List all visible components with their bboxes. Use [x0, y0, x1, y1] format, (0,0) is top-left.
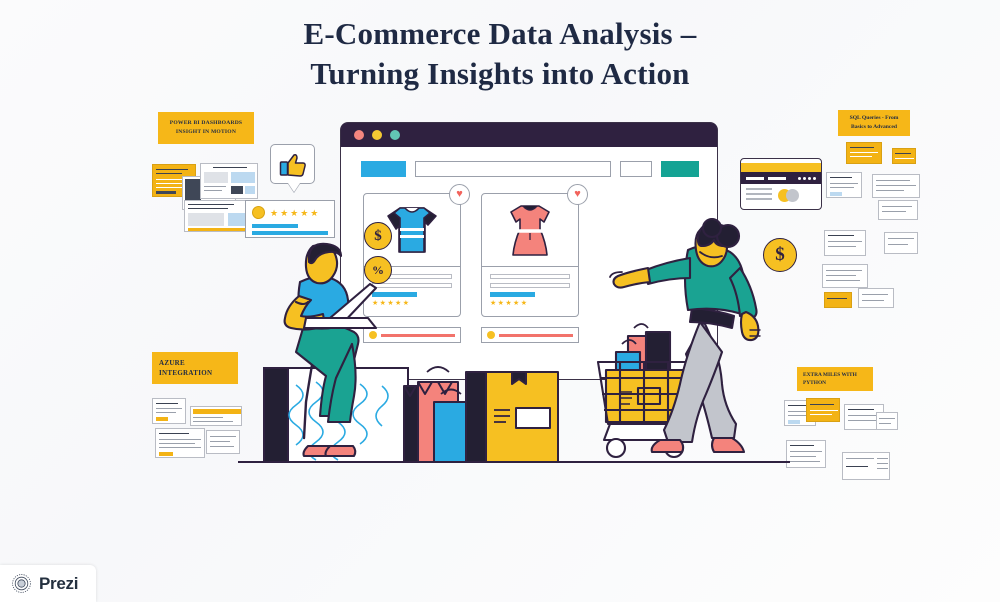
- thumbnail-azure-3[interactable]: [155, 428, 205, 458]
- review-stars: ★★★★★: [270, 209, 320, 217]
- label-sql-line-1: SQL Queries - From: [850, 114, 899, 123]
- product-rating-stars: ★★★★★: [490, 300, 570, 308]
- minimize-dot-icon[interactable]: [372, 130, 382, 140]
- dollar-coin-small-icon: $: [364, 222, 392, 250]
- product-image-dress: [482, 194, 578, 266]
- prezi-logo-icon: [11, 573, 32, 594]
- seat-platform: [264, 368, 408, 462]
- product-price-bar: [490, 292, 535, 297]
- thumbnail-python-2[interactable]: [806, 398, 840, 422]
- progress-row: [341, 317, 717, 343]
- browser-title-bar: [341, 123, 717, 147]
- thumbnail-azure-2[interactable]: [190, 406, 242, 426]
- account-box[interactable]: [620, 161, 652, 177]
- search-input[interactable]: [415, 161, 611, 177]
- page-title: E-Commerce Data Analysis – Turning Insig…: [0, 14, 1000, 94]
- cardboard-box: [466, 372, 558, 462]
- thumbnail-python-6[interactable]: [842, 452, 890, 480]
- progress-knob[interactable]: [487, 331, 495, 339]
- thumbnail-azure-4[interactable]: [206, 430, 240, 454]
- thumbnail-python-5[interactable]: [786, 440, 826, 468]
- thumbnail-dashboard-3[interactable]: [200, 163, 258, 199]
- label-python-line-2: PYTHON: [803, 379, 873, 387]
- thumbs-up-bubble: [270, 144, 315, 184]
- thumbnail-sql-6[interactable]: [824, 230, 866, 256]
- thumbnail-sql-4[interactable]: [872, 174, 920, 198]
- label-azure-line-1: AZURE: [159, 358, 238, 368]
- card-brand-circles: [778, 189, 800, 202]
- thumbnail-sql-5[interactable]: [878, 200, 918, 220]
- store-logo-block[interactable]: [361, 161, 406, 177]
- review-bar-2: [252, 231, 328, 235]
- thumbnail-sql-10[interactable]: [858, 288, 894, 308]
- product-meta: ★★★★★: [482, 267, 578, 308]
- thumbnail-azure-1[interactable]: [152, 398, 186, 424]
- thumbnail-sql-9[interactable]: [824, 292, 852, 308]
- thumbnail-python-4[interactable]: [876, 412, 898, 430]
- label-extra-miles-python[interactable]: EXTRA MILES WITH PYTHON: [797, 367, 873, 391]
- progress-track: [499, 334, 573, 337]
- thumbnail-sql-3[interactable]: [826, 172, 862, 198]
- label-sql-line-2: Basics to Advanced: [851, 123, 897, 132]
- thumbnail-sql-1[interactable]: [846, 142, 882, 164]
- product-rating-stars: ★★★★★: [372, 300, 452, 308]
- store-toolbar: [341, 147, 717, 177]
- review-rating-card: ★★★★★: [245, 200, 335, 238]
- card-magnetic-band: [741, 172, 821, 184]
- card-stripe: [741, 163, 821, 172]
- prezi-wordmark: Prezi: [39, 574, 78, 594]
- thumbs-up-icon: [279, 151, 306, 177]
- thumbnail-sql-8[interactable]: [822, 264, 868, 288]
- title-line-1: E-Commerce Data Analysis –: [0, 14, 1000, 54]
- favorite-heart-icon[interactable]: ♥: [567, 184, 588, 205]
- cart-button[interactable]: [661, 161, 699, 177]
- product-card-pink-dress[interactable]: ♥ ★★★★★: [481, 193, 579, 317]
- label-power-bi-line-1: POWER BI DASHBOARDS: [170, 119, 243, 128]
- stock-progress-left[interactable]: [363, 327, 461, 343]
- maximize-dot-icon[interactable]: [390, 130, 400, 140]
- progress-track: [381, 334, 455, 337]
- title-line-2: Turning Insights into Action: [0, 54, 1000, 94]
- dollar-coin-large-icon: $: [763, 238, 797, 272]
- label-power-bi-line-2: INSIGHT IN MOTION: [176, 128, 236, 137]
- reviewer-avatar: [252, 206, 265, 219]
- label-sql-queries[interactable]: SQL Queries - From Basics to Advanced: [838, 110, 910, 136]
- product-grid: ♥ ★★★★★: [341, 177, 717, 317]
- product-title-bar: [490, 274, 570, 279]
- browser-window-mockup: ♥ ★★★★★: [340, 122, 718, 380]
- label-azure-integration[interactable]: AZURE INTEGRATION: [152, 352, 238, 384]
- product-desc-bar: [372, 283, 452, 288]
- thumbnail-sql-7[interactable]: [884, 232, 918, 254]
- prezi-branding[interactable]: Prezi: [0, 565, 96, 602]
- card-number-lines: [746, 188, 772, 202]
- stock-progress-right[interactable]: [481, 327, 579, 343]
- label-python-line-1: EXTRA MILES WITH: [803, 371, 873, 379]
- shopping-bags-group: [404, 367, 472, 462]
- close-dot-icon[interactable]: [354, 130, 364, 140]
- progress-knob[interactable]: [369, 331, 377, 339]
- favorite-heart-icon[interactable]: ♥: [449, 184, 470, 205]
- label-azure-line-2: INTEGRATION: [159, 368, 238, 378]
- label-power-bi-dashboards[interactable]: POWER BI DASHBOARDS INSIGHT IN MOTION: [158, 112, 254, 144]
- product-price-bar: [372, 292, 417, 297]
- percent-coin-icon: %: [364, 256, 392, 284]
- review-bar-1: [252, 224, 298, 228]
- product-card-blue-tshirt[interactable]: ♥ ★★★★★: [363, 193, 461, 317]
- thumbnail-sql-2[interactable]: [892, 148, 916, 164]
- product-desc-bar: [490, 283, 570, 288]
- slide-canvas: E-Commerce Data Analysis – Turning Insig…: [0, 0, 1000, 602]
- credit-card-icon: [740, 158, 822, 210]
